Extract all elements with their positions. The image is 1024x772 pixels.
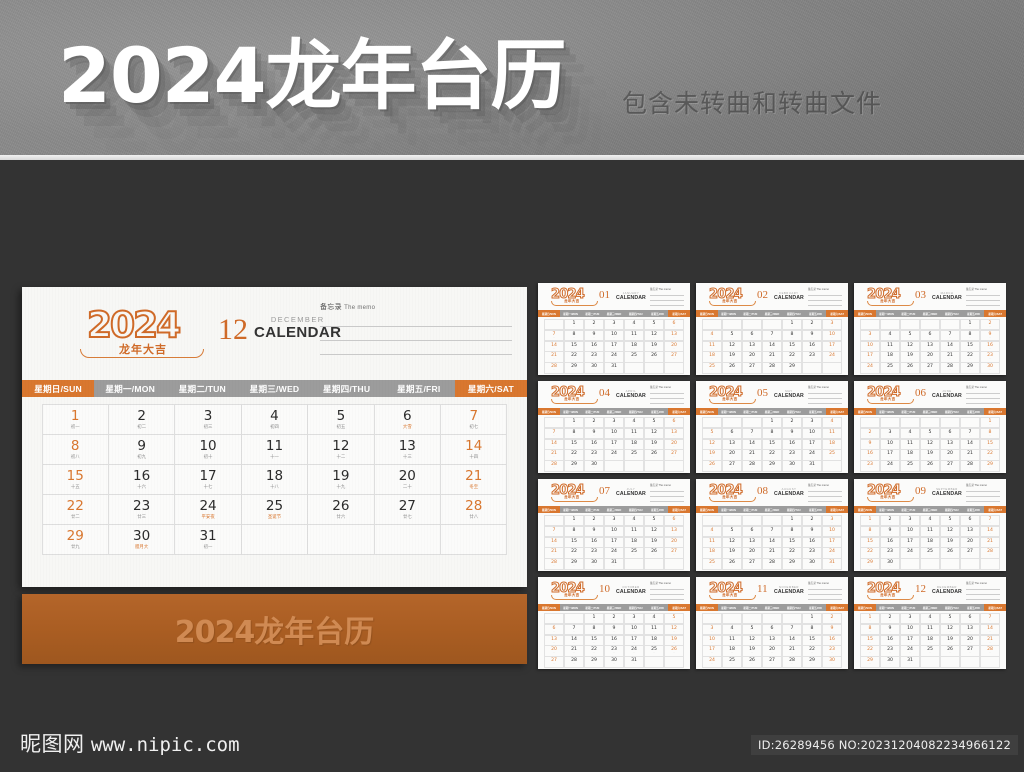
date-cell[interactable]: 12·· <box>644 330 665 342</box>
date-cell[interactable]: 23·· <box>880 547 901 559</box>
date-cell[interactable]: 4·· <box>900 428 921 440</box>
date-cell[interactable]: 6·· <box>742 330 763 342</box>
date-cell[interactable]: 21·· <box>940 351 961 363</box>
memo-area[interactable]: 备忘录 The memo <box>320 302 512 355</box>
date-cell[interactable]: 22·· <box>584 645 605 657</box>
date-cell[interactable]: 9·· <box>880 624 901 636</box>
date-cell[interactable]: 14十四 <box>440 434 507 465</box>
date-cell[interactable]: 28·· <box>762 362 783 374</box>
memo-area[interactable]: 备忘录 The memo <box>808 483 842 502</box>
date-cell[interactable]: 3·· <box>822 515 843 527</box>
date-cell[interactable]: 16·· <box>802 537 823 549</box>
date-cell[interactable]: 9·· <box>802 330 823 342</box>
date-cell[interactable]: 13·· <box>920 341 941 353</box>
date-cell[interactable]: 5·· <box>742 624 763 636</box>
date-cell[interactable]: 19·· <box>920 449 941 461</box>
date-cell[interactable]: 2·· <box>802 319 823 331</box>
date-cell[interactable]: 14·· <box>762 537 783 549</box>
date-cell[interactable]: 19·· <box>664 635 685 647</box>
date-cell[interactable]: 5·· <box>940 515 961 527</box>
date-cell[interactable]: 28·· <box>782 656 803 668</box>
date-cell[interactable]: 30·· <box>604 656 625 668</box>
date-cell[interactable]: 19·· <box>644 341 665 353</box>
date-cell[interactable]: 8·· <box>860 624 881 636</box>
date-cell[interactable]: 28·· <box>742 460 763 472</box>
date-cell[interactable]: 13·· <box>664 330 685 342</box>
date-cell[interactable]: 1·· <box>564 417 585 429</box>
date-cell[interactable]: 11·· <box>702 341 723 353</box>
date-cell[interactable]: 30·· <box>880 558 901 570</box>
date-cell[interactable]: 28·· <box>544 362 565 374</box>
date-cell[interactable]: 26·· <box>742 656 763 668</box>
date-cell[interactable]: 7·· <box>782 624 803 636</box>
date-cell[interactable]: 30·· <box>822 656 843 668</box>
date-cell[interactable]: 17·· <box>900 635 921 647</box>
date-cell[interactable]: 16·· <box>880 537 901 549</box>
date-cell[interactable]: 9·· <box>584 526 605 538</box>
memo-area[interactable]: 备忘录 The memo <box>808 287 842 306</box>
date-cell[interactable]: 31·· <box>624 656 645 668</box>
date-cell[interactable]: 24·· <box>900 547 921 559</box>
date-cell[interactable]: 17·· <box>624 635 645 647</box>
date-cell[interactable]: 19·· <box>722 547 743 559</box>
date-cell[interactable]: 10·· <box>822 526 843 538</box>
date-cell[interactable]: 21·· <box>980 537 1001 549</box>
date-cell[interactable]: 15·· <box>782 341 803 353</box>
date-cell[interactable]: 13·· <box>742 341 763 353</box>
date-cell[interactable]: 23·· <box>860 460 881 472</box>
date-cell[interactable]: 5·· <box>644 515 665 527</box>
date-cell[interactable]: 26·· <box>644 351 665 363</box>
date-cell[interactable]: 26·· <box>664 645 685 657</box>
date-cell[interactable]: 29·· <box>782 362 803 374</box>
memo-area[interactable]: 备忘录 The memo <box>650 483 684 502</box>
date-cell[interactable]: 18·· <box>900 449 921 461</box>
date-cell[interactable]: 21冬至 <box>440 464 507 495</box>
date-cell[interactable]: 13·· <box>940 439 961 451</box>
date-cell[interactable]: 27廿七 <box>374 494 441 525</box>
site-brand[interactable]: 昵图网 www.nipic.com <box>20 728 240 758</box>
date-cell[interactable]: 19·· <box>900 351 921 363</box>
date-cell[interactable]: 29·· <box>860 656 881 668</box>
memo-area[interactable]: 备忘录 The memo <box>808 581 842 600</box>
month-date-grid[interactable]: 1··2··3··4··5··6··7··8··9··10··11··12··1… <box>696 317 848 374</box>
date-cell[interactable]: 22·· <box>564 547 585 559</box>
date-cell[interactable]: 8·· <box>564 330 585 342</box>
date-cell[interactable]: 20·· <box>960 635 981 647</box>
date-cell[interactable]: 2初二 <box>108 404 175 435</box>
date-cell[interactable]: 1·· <box>960 319 981 331</box>
date-cell[interactable]: 19·· <box>644 439 665 451</box>
date-cell[interactable]: 16·· <box>822 635 843 647</box>
date-cell[interactable]: 1·· <box>782 515 803 527</box>
date-cell[interactable]: 18·· <box>880 351 901 363</box>
date-cell[interactable]: 23·· <box>822 645 843 657</box>
date-cell[interactable]: 9初九 <box>108 434 175 465</box>
date-cell[interactable]: 22·· <box>762 449 783 461</box>
date-cell[interactable]: 17·· <box>802 439 823 451</box>
date-cell[interactable]: 12·· <box>664 624 685 636</box>
site-brand-url[interactable]: www.nipic.com <box>91 734 240 756</box>
memo-area[interactable]: 备忘录 The memo <box>650 287 684 306</box>
date-cell[interactable]: 27·· <box>920 362 941 374</box>
date-cell[interactable]: 21·· <box>762 351 783 363</box>
date-cell[interactable]: 18·· <box>702 547 723 559</box>
date-cell[interactable]: 10·· <box>880 439 901 451</box>
date-cell[interactable]: 4·· <box>920 515 941 527</box>
memo-line[interactable] <box>808 399 842 404</box>
date-cell[interactable]: 8·· <box>584 624 605 636</box>
date-cell[interactable]: 27·· <box>960 547 981 559</box>
date-cell[interactable]: 30·· <box>584 558 605 570</box>
month-thumbnail[interactable]: 2024龙年大吉01JANUARYCALENDAR备忘录 The memo星期日… <box>538 283 690 375</box>
date-cell[interactable]: 7初七 <box>440 404 507 435</box>
date-cell[interactable]: 22·· <box>860 547 881 559</box>
date-cell[interactable]: 16·· <box>604 635 625 647</box>
date-cell[interactable]: 30·· <box>980 362 1001 374</box>
date-cell[interactable]: 8·· <box>564 526 585 538</box>
date-cell[interactable]: 28廿八 <box>440 494 507 525</box>
date-cell[interactable]: 23·· <box>584 547 605 559</box>
date-cell[interactable]: 3·· <box>900 515 921 527</box>
date-cell[interactable]: 31初一 <box>174 524 241 555</box>
date-cell[interactable]: 25·· <box>920 547 941 559</box>
month-thumbnail[interactable]: 2024龙年大吉08AUGUSTCALENDAR备忘录 The memo星期日/… <box>696 479 848 571</box>
date-cell[interactable]: 15·· <box>564 439 585 451</box>
date-cell[interactable]: 30·· <box>802 558 823 570</box>
date-cell[interactable]: 6·· <box>762 624 783 636</box>
date-cell[interactable]: 4·· <box>920 613 941 625</box>
date-cell[interactable]: 18·· <box>920 635 941 647</box>
date-cell[interactable]: 28·· <box>940 362 961 374</box>
date-cell[interactable]: 14·· <box>782 635 803 647</box>
date-cell[interactable]: 4·· <box>624 319 645 331</box>
date-cell[interactable]: 6·· <box>960 613 981 625</box>
date-cell[interactable]: 3·· <box>900 613 921 625</box>
date-cell[interactable]: 28·· <box>762 558 783 570</box>
date-cell[interactable]: 2·· <box>880 515 901 527</box>
date-cell[interactable]: 24·· <box>624 645 645 657</box>
date-cell[interactable]: 6·· <box>722 428 743 440</box>
date-cell[interactable]: 15十五 <box>42 464 109 495</box>
date-cell[interactable]: 22·· <box>960 351 981 363</box>
date-cell[interactable]: 29·· <box>980 460 1001 472</box>
date-cell[interactable]: 18·· <box>624 439 645 451</box>
date-cell[interactable]: 24·· <box>604 547 625 559</box>
date-cell[interactable]: 23·· <box>584 351 605 363</box>
date-cell[interactable]: 3·· <box>624 613 645 625</box>
date-cell[interactable]: 26·· <box>900 362 921 374</box>
date-cell[interactable]: 2·· <box>880 613 901 625</box>
date-cell[interactable]: 2·· <box>802 515 823 527</box>
date-cell[interactable]: 11十一 <box>241 434 308 465</box>
date-cell[interactable]: 16·· <box>880 635 901 647</box>
date-cell[interactable]: 7·· <box>980 613 1001 625</box>
date-cell[interactable]: 31·· <box>900 656 921 668</box>
date-cell[interactable]: 12·· <box>644 428 665 440</box>
date-cell[interactable]: 30·· <box>584 362 605 374</box>
date-cell[interactable]: 20·· <box>664 439 685 451</box>
date-cell[interactable]: 2·· <box>584 319 605 331</box>
date-cell[interactable]: 8·· <box>762 428 783 440</box>
date-cell[interactable]: 18·· <box>920 537 941 549</box>
date-cell[interactable]: 1·· <box>564 319 585 331</box>
date-cell[interactable]: 27·· <box>960 645 981 657</box>
date-cell[interactable]: 16·· <box>584 341 605 353</box>
date-cell[interactable]: 9·· <box>860 439 881 451</box>
memo-area[interactable]: 备忘录 The memo <box>808 385 842 404</box>
date-cell[interactable]: 3·· <box>702 624 723 636</box>
date-cell[interactable]: 9·· <box>782 428 803 440</box>
date-cell[interactable]: 10·· <box>900 526 921 538</box>
date-cell[interactable]: 4·· <box>880 330 901 342</box>
date-cell[interactable]: 21·· <box>742 449 763 461</box>
date-cell[interactable]: 25·· <box>722 656 743 668</box>
date-cell[interactable]: 29·· <box>960 362 981 374</box>
date-cell[interactable]: 15·· <box>564 341 585 353</box>
date-cell[interactable]: 4·· <box>624 515 645 527</box>
date-cell[interactable]: 2·· <box>822 613 843 625</box>
month-date-grid[interactable]: 1初一2初二3初三4初四5初五6大雪7初七8初八9初九10初十11十一12十二1… <box>22 397 527 554</box>
date-cell[interactable]: 6·· <box>920 330 941 342</box>
date-cell[interactable]: 1初一 <box>42 404 109 435</box>
date-cell[interactable]: 23·· <box>802 351 823 363</box>
date-cell[interactable]: 20·· <box>722 449 743 461</box>
month-thumbnail[interactable]: 2024龙年大吉10OCTOBERCALENDAR备忘录 The memo星期日… <box>538 577 690 669</box>
date-cell[interactable]: 15·· <box>860 537 881 549</box>
date-cell[interactable]: 15·· <box>802 635 823 647</box>
date-cell[interactable]: 21·· <box>782 645 803 657</box>
date-cell[interactable]: 18·· <box>722 645 743 657</box>
month-date-grid[interactable]: 1··2··3··4··5··6··7··8··9··10··11··12··1… <box>854 415 1006 472</box>
date-cell[interactable]: 10·· <box>860 341 881 353</box>
month-thumbnail[interactable]: 2024龙年大吉09SEPTEMBERCALENDAR备忘录 The memo星… <box>854 479 1006 571</box>
date-cell[interactable]: 14·· <box>762 341 783 353</box>
date-cell[interactable]: 19·· <box>722 351 743 363</box>
date-cell[interactable]: 16·· <box>860 449 881 461</box>
date-cell[interactable]: 3·· <box>604 417 625 429</box>
date-cell[interactable]: 11·· <box>900 439 921 451</box>
date-cell[interactable]: 28·· <box>980 547 1001 559</box>
date-cell[interactable]: 27·· <box>742 558 763 570</box>
date-cell[interactable]: 19·· <box>940 635 961 647</box>
date-cell[interactable]: 5·· <box>722 526 743 538</box>
date-cell[interactable]: 28·· <box>564 656 585 668</box>
date-cell[interactable]: 13·· <box>960 624 981 636</box>
date-cell[interactable]: 25·· <box>702 558 723 570</box>
date-cell[interactable]: 6·· <box>664 319 685 331</box>
date-cell[interactable]: 5·· <box>920 428 941 440</box>
date-cell[interactable]: 10·· <box>900 624 921 636</box>
date-cell[interactable]: 12·· <box>644 526 665 538</box>
date-cell[interactable]: 14·· <box>980 526 1001 538</box>
date-cell[interactable]: 24·· <box>880 460 901 472</box>
date-cell[interactable]: 5初五 <box>307 404 374 435</box>
date-cell[interactable]: 12·· <box>742 635 763 647</box>
date-cell[interactable]: 25·· <box>624 547 645 559</box>
date-cell[interactable]: 6大雪 <box>374 404 441 435</box>
date-cell[interactable]: 10·· <box>624 624 645 636</box>
date-cell[interactable]: 7·· <box>564 624 585 636</box>
date-cell[interactable]: 13·· <box>664 428 685 440</box>
date-cell[interactable]: 12·· <box>702 439 723 451</box>
date-cell[interactable]: 15·· <box>980 439 1001 451</box>
date-cell[interactable]: 27·· <box>664 449 685 461</box>
date-cell[interactable]: 14·· <box>960 439 981 451</box>
date-cell[interactable]: 24·· <box>822 351 843 363</box>
memo-line[interactable] <box>650 399 684 404</box>
memo-line[interactable] <box>808 595 842 600</box>
memo-lines[interactable] <box>320 313 512 355</box>
date-cell[interactable]: 6·· <box>544 624 565 636</box>
date-cell[interactable]: 4·· <box>822 417 843 429</box>
date-cell[interactable]: 20·· <box>664 341 685 353</box>
date-cell[interactable]: 10·· <box>802 428 823 440</box>
date-cell[interactable]: 18十八 <box>241 464 308 495</box>
date-cell[interactable]: 30·· <box>782 460 803 472</box>
month-date-grid[interactable]: 1··2··3··4··5··6··7··8··9··10··11··12··1… <box>854 611 1006 668</box>
date-cell[interactable]: 11·· <box>880 341 901 353</box>
date-cell[interactable]: 22·· <box>802 645 823 657</box>
memo-line[interactable] <box>320 313 512 327</box>
date-cell[interactable]: 30·· <box>880 656 901 668</box>
month-date-grid[interactable]: 1··2··3··4··5··6··7··8··9··10··11··12··1… <box>696 611 848 668</box>
date-cell[interactable]: 4初四 <box>241 404 308 435</box>
date-cell[interactable]: 25·· <box>822 449 843 461</box>
date-cell[interactable]: 13·· <box>762 635 783 647</box>
date-cell[interactable]: 14·· <box>544 537 565 549</box>
date-cell[interactable]: 22·· <box>564 351 585 363</box>
month-thumbnail[interactable]: 2024龙年大吉05MAYCALENDAR备忘录 The memo星期日/SUN… <box>696 381 848 473</box>
date-cell[interactable]: 25·· <box>880 362 901 374</box>
date-cell[interactable]: 21·· <box>762 547 783 559</box>
memo-line[interactable] <box>966 595 1000 600</box>
date-cell[interactable]: 12十二 <box>307 434 374 465</box>
date-cell[interactable]: 2·· <box>584 515 605 527</box>
date-cell[interactable]: 14·· <box>980 624 1001 636</box>
date-cell[interactable]: 1·· <box>584 613 605 625</box>
date-cell[interactable]: 6·· <box>742 526 763 538</box>
date-cell[interactable]: 24·· <box>604 351 625 363</box>
date-cell[interactable]: 15·· <box>782 537 803 549</box>
date-cell[interactable]: 7·· <box>544 428 565 440</box>
date-cell[interactable]: 5·· <box>664 613 685 625</box>
date-cell[interactable]: 25·· <box>920 645 941 657</box>
memo-area[interactable]: 备忘录 The memo <box>650 385 684 404</box>
date-cell[interactable]: 14·· <box>742 439 763 451</box>
date-cell[interactable]: 4·· <box>644 613 665 625</box>
memo-line[interactable] <box>966 399 1000 404</box>
date-cell[interactable]: 7·· <box>742 428 763 440</box>
date-cell[interactable]: 20二十 <box>374 464 441 495</box>
date-cell[interactable]: 8·· <box>564 428 585 440</box>
date-cell[interactable]: 15·· <box>584 635 605 647</box>
date-cell[interactable]: 5·· <box>940 613 961 625</box>
date-cell[interactable]: 26·· <box>644 547 665 559</box>
date-cell[interactable]: 16·· <box>782 439 803 451</box>
date-cell[interactable]: 19·· <box>702 449 723 461</box>
date-cell[interactable]: 22廿二 <box>42 494 109 525</box>
date-cell[interactable]: 7·· <box>544 330 565 342</box>
date-cell[interactable]: 29·· <box>782 558 803 570</box>
month-thumbnail[interactable]: 2024龙年大吉07JULYCALENDAR备忘录 The memo星期日/SU… <box>538 479 690 571</box>
date-cell[interactable]: 4·· <box>624 417 645 429</box>
memo-line[interactable] <box>966 301 1000 306</box>
date-cell[interactable]: 26廿六 <box>307 494 374 525</box>
date-cell[interactable]: 17·· <box>900 537 921 549</box>
date-cell[interactable]: 23廿三 <box>108 494 175 525</box>
month-thumbnail[interactable]: 2024龙年大吉04APRILCALENDAR备忘录 The memo星期日/S… <box>538 381 690 473</box>
date-cell[interactable]: 3·· <box>802 417 823 429</box>
date-cell[interactable]: 27·· <box>722 460 743 472</box>
date-cell[interactable]: 29·· <box>564 558 585 570</box>
date-cell[interactable]: 4·· <box>702 526 723 538</box>
date-cell[interactable]: 1·· <box>980 417 1001 429</box>
date-cell[interactable]: 11·· <box>624 428 645 440</box>
date-cell[interactable]: 20·· <box>664 537 685 549</box>
date-cell[interactable]: 26·· <box>722 558 743 570</box>
month-date-grid[interactable]: 1··2··3··4··5··6··7··8··9··10··11··12··1… <box>538 513 690 570</box>
month-date-grid[interactable]: 1··2··3··4··5··6··7··8··9··10··11··12··1… <box>538 317 690 374</box>
date-cell[interactable]: 9·· <box>584 428 605 440</box>
date-cell[interactable]: 14·· <box>564 635 585 647</box>
date-cell[interactable]: 2·· <box>604 613 625 625</box>
month-thumbnail[interactable]: 2024龙年大吉12DECEMBERCALENDAR备忘录 The memo星期… <box>854 577 1006 669</box>
date-cell[interactable]: 17·· <box>702 645 723 657</box>
date-cell[interactable]: 3初三 <box>174 404 241 435</box>
date-cell[interactable]: 12·· <box>722 341 743 353</box>
main-calendar-card[interactable]: 2024 龙年大吉 12 DECEMBER CALENDAR 备忘录 The m… <box>22 287 527 587</box>
date-cell[interactable]: 27·· <box>664 351 685 363</box>
date-cell[interactable]: 19·· <box>644 537 665 549</box>
date-cell[interactable]: 7·· <box>762 330 783 342</box>
date-cell[interactable]: 8·· <box>802 624 823 636</box>
date-cell[interactable]: 19·· <box>742 645 763 657</box>
date-cell[interactable]: 9·· <box>822 624 843 636</box>
date-cell[interactable]: 17·· <box>860 351 881 363</box>
date-cell[interactable]: 9·· <box>584 330 605 342</box>
date-cell[interactable]: 28·· <box>544 558 565 570</box>
date-cell[interactable]: 11·· <box>702 537 723 549</box>
date-cell[interactable]: 23·· <box>880 645 901 657</box>
date-cell[interactable]: 15·· <box>960 341 981 353</box>
date-cell[interactable]: 24·· <box>802 449 823 461</box>
date-cell[interactable]: 14·· <box>544 341 565 353</box>
date-cell[interactable]: 20·· <box>920 351 941 363</box>
date-cell[interactable]: 22·· <box>782 351 803 363</box>
date-cell[interactable]: 27·· <box>940 460 961 472</box>
date-cell[interactable]: 29廿九 <box>42 524 109 555</box>
date-cell[interactable]: 11·· <box>624 330 645 342</box>
date-cell[interactable]: 29·· <box>802 656 823 668</box>
date-cell[interactable]: 13·· <box>722 439 743 451</box>
date-cell[interactable]: 1·· <box>762 417 783 429</box>
date-cell[interactable]: 2·· <box>980 319 1001 331</box>
date-cell[interactable]: 22·· <box>564 449 585 461</box>
date-cell[interactable]: 5·· <box>722 330 743 342</box>
memo-area[interactable]: 备忘录 The memo <box>966 287 1000 306</box>
date-cell[interactable]: 25圣诞节 <box>241 494 308 525</box>
date-cell[interactable]: 21·· <box>544 351 565 363</box>
date-cell[interactable]: 13·· <box>742 537 763 549</box>
date-cell[interactable]: 24·· <box>702 656 723 668</box>
date-cell[interactable]: 20·· <box>742 547 763 559</box>
date-cell[interactable]: 8·· <box>782 330 803 342</box>
date-cell[interactable]: 1·· <box>860 613 881 625</box>
date-cell[interactable]: 29·· <box>762 460 783 472</box>
memo-line[interactable] <box>650 497 684 502</box>
date-cell[interactable]: 24·· <box>604 449 625 461</box>
